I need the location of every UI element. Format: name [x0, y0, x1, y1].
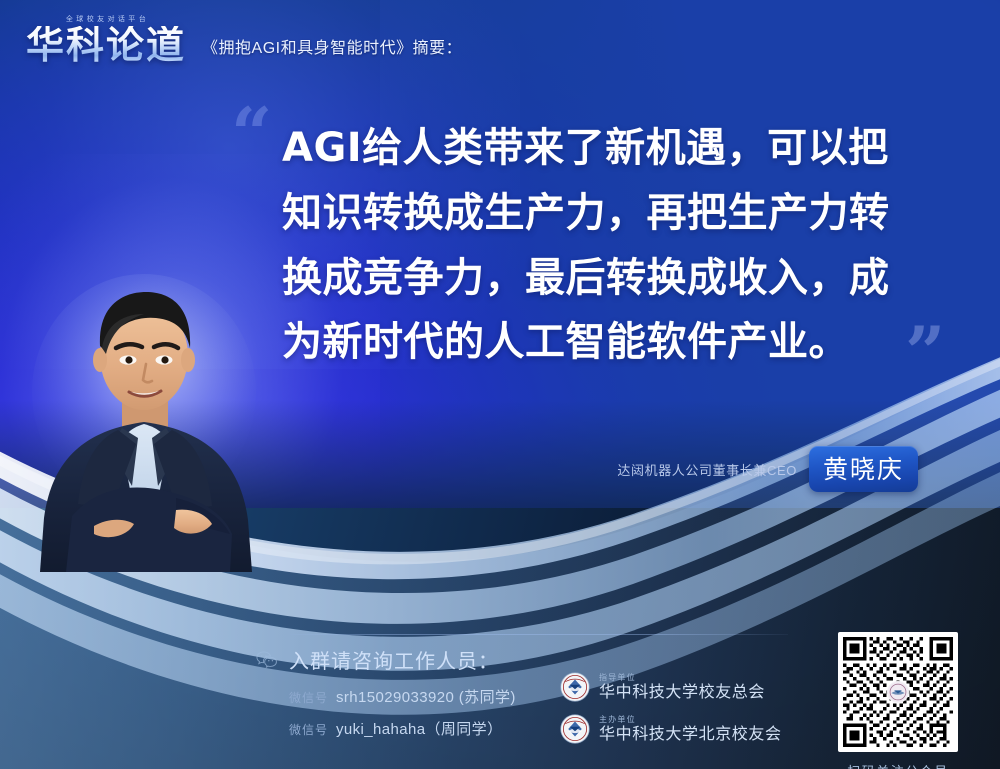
quote-line: 换成竞争力，最后转换成收入，成 — [282, 246, 942, 311]
header-subtitle: 《拥抱AGI和具身智能时代》摘要： — [202, 34, 462, 64]
contact-row: 微信号 yuki_hahaha（周同学） — [256, 718, 516, 739]
attribution: 达闼机器人公司董事长兼CEO 黄晓庆 — [617, 446, 918, 492]
qr-center-logo — [887, 681, 909, 703]
quote-block: AGI给人类带来了新机遇，可以把 知识转换成生产力，再把生产力转 换成竞争力，最… — [282, 116, 942, 375]
contact-title: 入群请咨询工作人员： — [289, 645, 499, 674]
contact-section: 入群请咨询工作人员： 微信号 srh15029033920 (苏同学) 微信号 … — [256, 645, 516, 750]
poster-canvas: 全球校友对话平台 华科论道 《拥抱AGI和具身智能时代》摘要： “ AGI给人类… — [0, 0, 1000, 769]
contact-row: 微信号 srh15029033920 (苏同学) — [256, 686, 516, 707]
contact-label: 微信号 — [289, 689, 328, 706]
organization-name: 华中科技大学校友总会 — [599, 685, 765, 701]
contact-value[interactable]: srh15029033920 (苏同学) — [336, 686, 516, 707]
organization-name: 华中科技大学北京校友会 — [599, 727, 782, 743]
organization-item: 指导单位 华中科技大学校友总会 — [560, 672, 782, 702]
logo-wordmark: 华科论道 — [26, 26, 186, 64]
organization-kicker: 主办单位 — [599, 716, 782, 724]
organization-kicker: 指导单位 — [599, 674, 765, 682]
organization-item: 主办单位 华中科技大学北京校友会 — [560, 714, 782, 744]
hust-seal-icon — [887, 637, 909, 747]
quote-line: AGI给人类带来了新机遇，可以把 — [282, 116, 942, 181]
contact-value[interactable]: yuki_hahaha（周同学） — [336, 718, 502, 739]
header: 全球校友对话平台 华科论道 《拥抱AGI和具身智能时代》摘要： — [26, 14, 462, 64]
organization-text: 主办单位 华中科技大学北京校友会 — [599, 716, 782, 743]
hust-seal-icon — [560, 714, 590, 744]
quote-open-mark: “ — [231, 98, 272, 170]
wechat-icon — [256, 651, 278, 668]
hust-seal-icon — [560, 672, 590, 702]
footer-divider — [290, 634, 788, 635]
organization-text: 指导单位 华中科技大学校友总会 — [599, 674, 765, 701]
quote-line: 知识转换成生产力，再把生产力转 — [282, 181, 942, 246]
speaker-portrait — [26, 272, 266, 572]
qr-code[interactable] — [838, 632, 958, 752]
speaker-name-badge: 黄晓庆 — [809, 446, 918, 492]
quote-line: 为新时代的人工智能软件产业。 — [282, 310, 942, 375]
contact-header: 入群请咨询工作人员： — [256, 645, 516, 674]
brand-logo[interactable]: 全球校友对话平台 华科论道 — [26, 14, 186, 64]
qr-section: 扫码关注公众号 — [838, 632, 958, 769]
contact-label: 微信号 — [289, 721, 328, 738]
organizations: 指导单位 华中科技大学校友总会 主办单位 华中科技大学北京校友会 — [560, 672, 782, 756]
speaker-role: 达闼机器人公司董事长兼CEO — [617, 460, 797, 479]
qr-caption: 扫码关注公众号 — [838, 761, 958, 769]
